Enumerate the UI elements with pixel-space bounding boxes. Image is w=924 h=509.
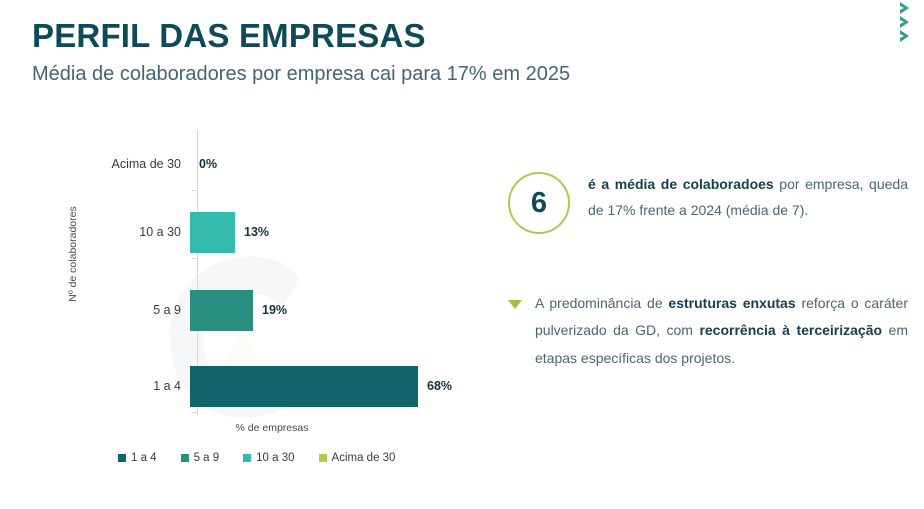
bar-value-label: 0% [199, 157, 217, 171]
header: PERFIL DAS EMPRESAS Média de colaborador… [32, 18, 832, 86]
chart-x-axis-title: % de empresas [157, 422, 387, 434]
bar-value-label: 68% [427, 379, 452, 393]
legend-item-10a30[interactable]: 10 a 30 [243, 452, 294, 464]
bar-row[interactable]: 5 a 9 19% [70, 276, 470, 344]
chart-legend: 1 a 4 5 a 9 10 a 30 Acima de 30 [118, 452, 395, 464]
bar-10-a-30[interactable] [190, 212, 235, 253]
legend-label: Acima de 30 [332, 452, 396, 464]
page-subtitle: Média de colaboradores por empresa cai p… [32, 62, 832, 86]
bar-value-label: 19% [262, 303, 287, 317]
legend-label: 10 a 30 [256, 452, 294, 464]
legend-swatch-icon [319, 454, 327, 462]
stat-number: 6 [531, 189, 547, 218]
legend-label: 1 a 4 [131, 452, 157, 464]
bar-5-a-9[interactable] [190, 290, 253, 331]
bullet-bold-1: estruturas enxutas [668, 295, 795, 311]
bar-category-label: Acima de 30 [70, 157, 190, 171]
legend-item-5a9[interactable]: 5 a 9 [181, 452, 220, 464]
bar-category-label: 5 a 9 [70, 303, 190, 317]
bullet-part-1: A predominância de [535, 295, 668, 311]
bar-row[interactable]: 10 a 30 13% [70, 198, 470, 266]
bar-container: 68% [190, 352, 470, 420]
triangle-bullet-icon [508, 300, 522, 309]
stat-description: é a média de colaboradoes por empresa, q… [588, 168, 908, 224]
chart-panel: Nº de colaboradores Acima de 30 0% 10 a … [30, 130, 480, 485]
bar-container: 0% [190, 130, 470, 198]
bar-category-label: 10 a 30 [70, 225, 190, 239]
legend-item-acima-de-30[interactable]: Acima de 30 [319, 452, 396, 464]
chart-plot-area: Acima de 30 0% 10 a 30 13% 5 a 9 19% 1 a… [70, 130, 470, 418]
stat-block: 6 é a média de colaboradoes por empresa,… [508, 168, 908, 234]
bar-container: 19% [190, 276, 470, 344]
stat-circle: 6 [508, 172, 570, 234]
bar-container: 13% [190, 198, 470, 266]
bar-1-a-4[interactable] [190, 366, 418, 407]
corner-chevron-decoration [898, 0, 924, 46]
stat-description-bold: é a média de colaboradoes [588, 176, 774, 192]
bullet-block: A predominância de estruturas enxutas re… [508, 290, 908, 372]
bar-row[interactable]: 1 a 4 68% [70, 352, 470, 420]
bar-value-label: 13% [244, 225, 269, 239]
bullet-bold-2: recorrência à terceirização [699, 322, 882, 338]
legend-swatch-icon [243, 454, 251, 462]
legend-swatch-icon [118, 454, 126, 462]
legend-item-1a4[interactable]: 1 a 4 [118, 452, 157, 464]
legend-swatch-icon [181, 454, 189, 462]
bar-category-label: 1 a 4 [70, 379, 190, 393]
legend-label: 5 a 9 [194, 452, 220, 464]
side-panel: 6 é a média de colaboradoes por empresa,… [508, 168, 908, 372]
chevron-arrows-icon [898, 0, 924, 46]
page-title: PERFIL DAS EMPRESAS [32, 18, 832, 55]
bar-row[interactable]: Acima de 30 0% [70, 130, 470, 198]
bullet-text: A predominância de estruturas enxutas re… [535, 290, 908, 372]
